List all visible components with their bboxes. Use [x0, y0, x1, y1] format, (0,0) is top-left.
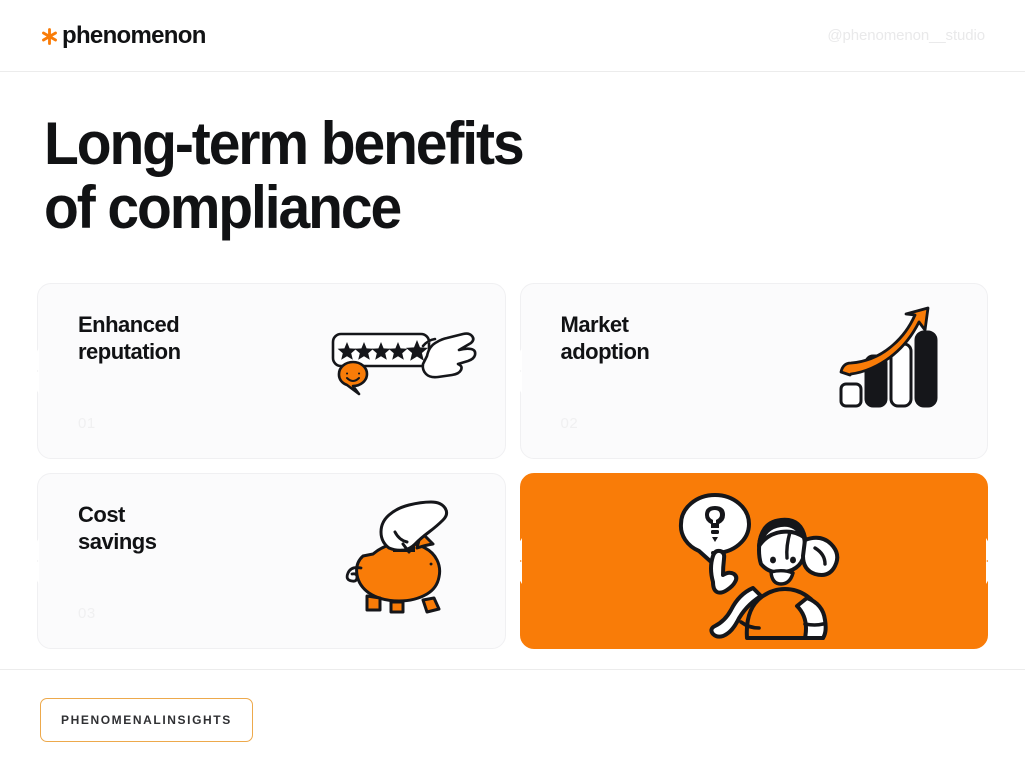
- footer: PHENOMENALINSIGHTS: [0, 669, 1025, 769]
- card-number: [561, 622, 988, 648]
- social-handle: @phenomenon__studio: [827, 27, 985, 44]
- card-body: Enhanced reputation 01: [38, 284, 505, 458]
- benefit-card-market-adoption[interactable]: Market adoption 02: [520, 283, 989, 459]
- card-body: [521, 474, 988, 648]
- benefit-card-cost-savings[interactable]: Cost savings 03: [37, 473, 506, 649]
- slide: phenomenon @phenomenon__studio Long-term…: [0, 0, 1025, 769]
- card-body: Market adoption 02: [521, 284, 988, 458]
- card-title: Market adoption: [561, 312, 988, 365]
- card-title: Enhanced reputation: [78, 312, 505, 365]
- benefit-card-enhanced-reputation[interactable]: Enhanced reputation 01: [37, 283, 506, 459]
- card-number: 03: [78, 605, 505, 648]
- card-number: 02: [561, 415, 988, 458]
- benefit-card-grid: Enhanced reputation 01: [0, 239, 1025, 651]
- header: phenomenon @phenomenon__studio: [0, 0, 1025, 72]
- page-title: Long-term benefits of compliance: [44, 112, 938, 239]
- asterisk-icon: [40, 27, 59, 46]
- title-section: Long-term benefits of compliance: [0, 72, 1025, 239]
- brand-name: phenomenon: [62, 24, 206, 48]
- brand-logo[interactable]: phenomenon: [40, 24, 206, 48]
- benefit-card-accent-illustration[interactable]: [520, 473, 989, 649]
- card-title: Cost savings: [78, 502, 505, 555]
- card-number: 01: [78, 415, 505, 458]
- card-body: Cost savings 03: [38, 474, 505, 648]
- notch-right-icon: [986, 538, 999, 584]
- footer-tag-badge[interactable]: PHENOMENALINSIGHTS: [40, 698, 253, 742]
